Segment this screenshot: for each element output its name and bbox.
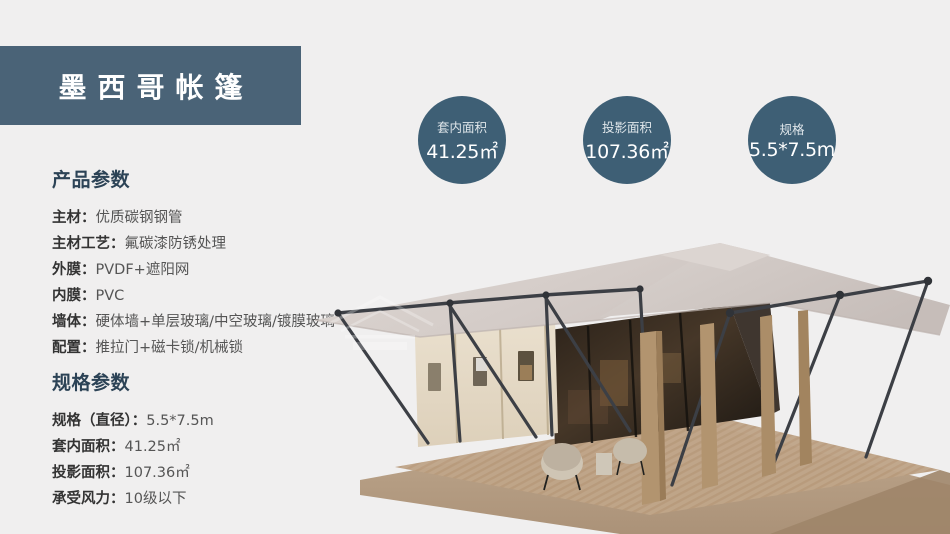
badge-label: 投影面积 (602, 117, 652, 136)
badge-value: 107.36㎡ (585, 137, 668, 164)
param-row: 规格（直径）：5.5*7.5m (52, 408, 214, 434)
badge-interior-area: 套内面积 41.25㎡ (418, 96, 506, 184)
param-value: 推拉门+磁卡锁/机械锁 (96, 340, 244, 356)
badge-projected-area: 投影面积 107.36㎡ (583, 96, 671, 184)
page-title: 墨西哥帐篷 (47, 66, 253, 106)
tent-render-image (300, 185, 950, 534)
badge-dimensions: 规格 5.5*7.5m (748, 96, 836, 184)
param-label: 墙体： (52, 314, 96, 330)
param-value: 优质碳钢钢管 (96, 210, 183, 226)
param-label: 主材： (52, 210, 96, 226)
param-label: 投影面积： (52, 465, 125, 481)
param-value: 107.36㎡ (125, 465, 190, 481)
param-value: 硬体墙+单层玻璃/中空玻璃/镀膜玻璃 (96, 314, 335, 330)
size-parameters-section: 规格参数 规格（直径）：5.5*7.5m 套内面积：41.25㎡ 投影面积：10… (52, 368, 214, 512)
size-parameters-heading: 规格参数 (52, 368, 214, 395)
badge-value: 41.25㎡ (426, 137, 498, 164)
param-label: 规格（直径）： (52, 413, 146, 429)
param-row: 主材工艺：氟碳漆防锈处理 (52, 231, 335, 257)
param-row: 外膜：PVDF+遮阳网 (52, 257, 335, 283)
param-label: 承受风力： (52, 491, 125, 507)
param-row: 投影面积：107.36㎡ (52, 460, 214, 486)
badge-value: 5.5*7.5m (749, 139, 835, 161)
param-value: 5.5*7.5m (146, 413, 214, 429)
param-row: 承受风力：10级以下 (52, 486, 214, 512)
param-value: 氟碳漆防锈处理 (125, 236, 227, 252)
param-row: 配置：推拉门+磁卡锁/机械锁 (52, 335, 335, 361)
badge-label: 规格 (779, 119, 804, 138)
param-label: 套内面积： (52, 439, 125, 455)
param-row: 主材：优质碳钢钢管 (52, 205, 335, 231)
param-row: 墙体：硬体墙+单层玻璃/中空玻璃/镀膜玻璃 (52, 309, 335, 335)
param-value: PVDF+遮阳网 (96, 262, 190, 278)
param-row: 内膜：PVC (52, 283, 335, 309)
param-value: 10级以下 (125, 491, 187, 507)
param-label: 主材工艺： (52, 236, 125, 252)
param-label: 外膜： (52, 262, 96, 278)
param-label: 配置： (52, 340, 96, 356)
param-value: 41.25㎡ (125, 439, 181, 455)
param-value: PVC (96, 288, 125, 304)
param-row: 套内面积：41.25㎡ (52, 434, 214, 460)
badge-label: 套内面积 (437, 117, 487, 136)
param-label: 内膜： (52, 288, 96, 304)
page-title-banner: 墨西哥帐篷 (0, 46, 301, 125)
product-parameters-section: 产品参数 主材：优质碳钢钢管 主材工艺：氟碳漆防锈处理 外膜：PVDF+遮阳网 … (52, 165, 335, 361)
product-spec-page: 墨西哥帐篷 套内面积 41.25㎡ 投影面积 107.36㎡ 规格 5.5*7.… (0, 0, 950, 534)
product-parameters-heading: 产品参数 (52, 165, 335, 192)
